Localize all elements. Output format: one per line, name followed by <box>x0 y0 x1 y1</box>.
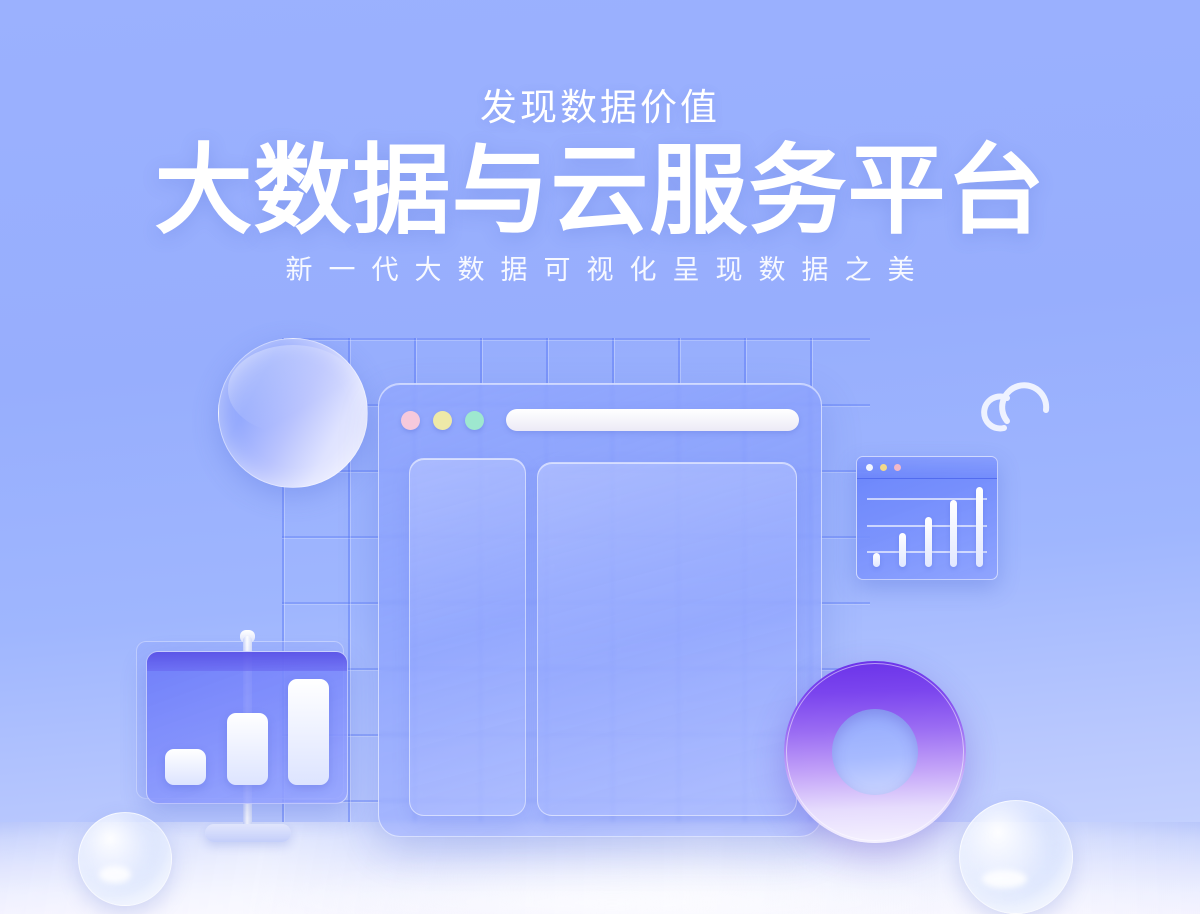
hero-text-block: 发现数据价值 大数据与云服务平台 新一代大数据可视化呈现数据之美 <box>0 88 1200 287</box>
maximize-dot[interactable] <box>465 411 484 430</box>
sidebar-panel[interactable] <box>409 458 526 816</box>
bar <box>227 713 268 785</box>
monitor-card-header <box>147 652 347 671</box>
bar <box>165 749 206 785</box>
dot-yellow-icon <box>880 464 887 471</box>
dot-pink-icon <box>894 464 901 471</box>
hero-banner: 发现数据价值 大数据与云服务平台 新一代大数据可视化呈现数据之美 <box>0 0 1200 914</box>
bar-series <box>873 487 983 567</box>
glass-ball-right <box>959 800 1073 914</box>
browser-window[interactable] <box>378 383 822 837</box>
bar <box>288 679 329 785</box>
bar <box>950 500 957 567</box>
monitor-stand-base <box>205 824 291 842</box>
floor-glow <box>240 844 984 914</box>
bar <box>925 517 932 567</box>
browser-titlebar <box>379 384 821 456</box>
dot-white-icon <box>866 464 873 471</box>
glass-disc <box>218 338 368 488</box>
monitor-bar-chart-card[interactable] <box>146 651 348 804</box>
cloud-icon <box>974 366 1060 436</box>
donut-torus <box>784 661 966 843</box>
glass-ball-left <box>78 812 172 906</box>
bar <box>899 533 906 567</box>
content-panel[interactable] <box>537 462 797 816</box>
card-titlebar <box>857 457 997 479</box>
hero-eyebrow: 发现数据价值 <box>0 88 1200 129</box>
minimize-dot[interactable] <box>433 411 452 430</box>
page-title: 大数据与云服务平台 <box>0 139 1200 242</box>
hero-subline: 新一代大数据可视化呈现数据之美 <box>0 248 1200 287</box>
bar <box>873 553 880 567</box>
ball-highlight <box>99 866 130 883</box>
monitor-bar-series <box>165 679 329 785</box>
address-bar-input[interactable] <box>506 409 799 431</box>
ball-highlight <box>982 870 1027 888</box>
bar-chart-plot <box>867 487 987 567</box>
bar <box>976 487 983 567</box>
close-dot[interactable] <box>401 411 420 430</box>
bar-chart-card[interactable] <box>856 456 998 580</box>
